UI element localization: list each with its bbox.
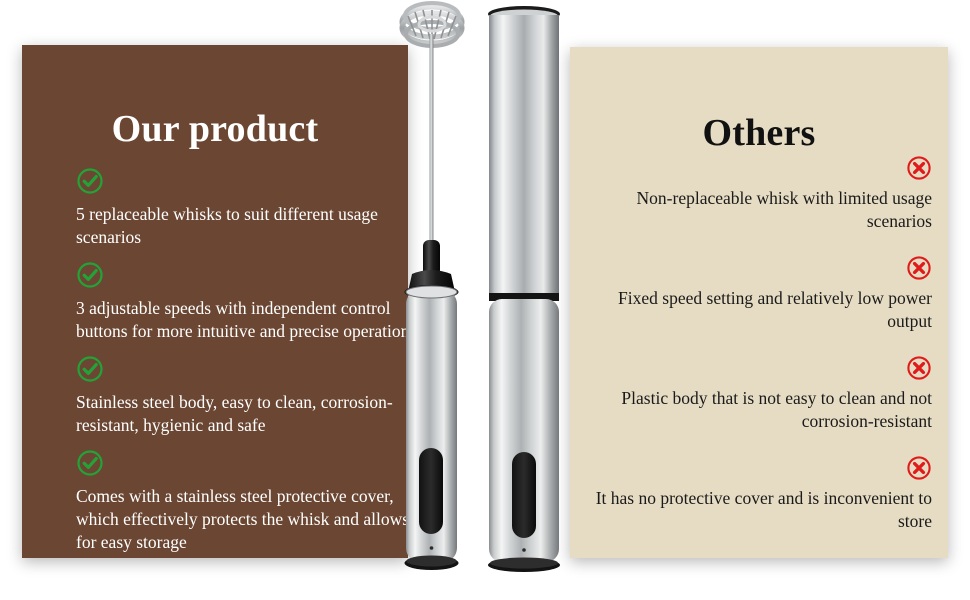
feature-text: Non-replaceable whisk with limited usage…	[586, 187, 932, 233]
black-control-panel	[512, 452, 536, 538]
others-panel: Others Non-replaceable whisk with limite…	[570, 47, 948, 558]
comparison-infographic: Our product 5 replaceable whisks to suit…	[0, 0, 970, 600]
feature-item: Fixed speed setting and relatively low p…	[586, 255, 932, 333]
others-title: Others	[570, 111, 948, 155]
our-product-title: Our product	[22, 107, 408, 151]
check-circle-icon	[76, 355, 104, 383]
our-product-feature-list: 5 replaceable whisks to suit different u…	[76, 167, 416, 566]
check-circle-icon	[76, 167, 104, 195]
indicator-dot	[430, 546, 434, 550]
cross-icon-row	[586, 355, 932, 381]
feature-item: 3 adjustable speeds with independent con…	[76, 261, 416, 343]
cross-icon-row	[586, 455, 932, 481]
check-icon-row	[76, 261, 416, 289]
feature-text: Comes with a stainless steel protective …	[76, 485, 416, 554]
cross-icon-row	[586, 155, 932, 181]
our-product-panel: Our product 5 replaceable whisks to suit…	[22, 45, 408, 558]
feature-text: Stainless steel body, easy to clean, cor…	[76, 391, 416, 437]
check-circle-icon	[76, 261, 104, 289]
feature-text: It has no protective cover and is inconv…	[586, 487, 932, 533]
cross-icon-row	[586, 255, 932, 281]
cross-circle-icon	[906, 155, 932, 181]
check-icon-row	[76, 355, 416, 383]
check-icon-row	[76, 449, 416, 477]
stainless-steel-protective-cover	[488, 6, 560, 572]
cross-circle-icon	[906, 255, 932, 281]
feature-item: 5 replaceable whisks to suit different u…	[76, 167, 416, 249]
feature-item: Non-replaceable whisk with limited usage…	[586, 155, 932, 233]
feature-item: It has no protective cover and is inconv…	[586, 455, 932, 533]
coiled-whisk-head	[402, 3, 462, 46]
others-feature-list: Non-replaceable whisk with limited usage…	[586, 155, 932, 555]
feature-text: 5 replaceable whisks to suit different u…	[76, 203, 416, 249]
indicator-dot	[522, 548, 526, 552]
feature-text: 3 adjustable speeds with independent con…	[76, 297, 416, 343]
black-base-ring	[488, 558, 560, 572]
black-seam-ring	[489, 293, 559, 301]
feature-text: Fixed speed setting and relatively low p…	[586, 287, 932, 333]
check-circle-icon	[76, 449, 104, 477]
stainless-steel-handle	[489, 299, 559, 562]
feature-item: Stainless steel body, easy to clean, cor…	[76, 355, 416, 437]
feature-text: Plastic body that is not easy to clean a…	[586, 387, 932, 433]
feature-item: Plastic body that is not easy to clean a…	[586, 355, 932, 433]
steel-shaft	[430, 34, 434, 244]
black-control-panel	[419, 448, 443, 534]
feature-item: Comes with a stainless steel protective …	[76, 449, 416, 554]
steel-cover-tube	[489, 15, 559, 297]
check-icon-row	[76, 167, 416, 195]
cross-circle-icon	[906, 455, 932, 481]
cross-circle-icon	[906, 355, 932, 381]
